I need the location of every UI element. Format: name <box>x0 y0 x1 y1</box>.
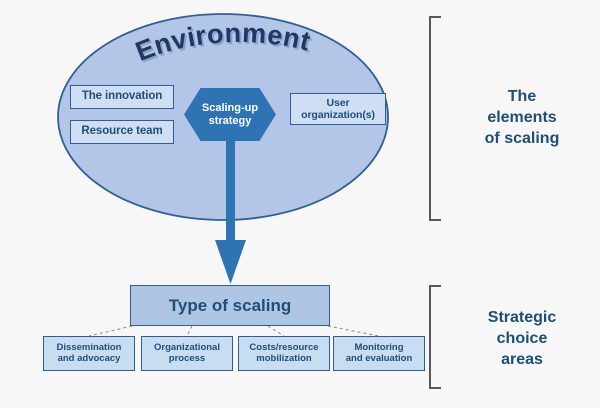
group-label-elements-of-scaling: The elements of scaling <box>447 86 597 149</box>
node-organizational-line1: Organizational <box>154 343 220 354</box>
scaling-up-strategy-label-line2: strategy <box>202 115 258 128</box>
node-dissemination-and-advocacy[interactable]: Dissemination and advocacy <box>43 336 135 371</box>
connector-monitoring <box>328 326 379 336</box>
node-the-innovation-label: The innovation <box>82 90 162 103</box>
node-resource-team-label: Resource team <box>81 125 162 138</box>
group-label-bottom-line2: choice <box>447 328 597 349</box>
group-label-top-line1: The <box>447 86 597 107</box>
node-costs-line2: mobilization <box>249 354 318 365</box>
node-type-of-scaling-label: Type of scaling <box>169 296 292 316</box>
group-label-top-line2: elements <box>447 107 597 128</box>
connector-lines <box>89 326 379 336</box>
group-label-bottom-line3: areas <box>447 349 597 370</box>
group-label-bottom-line1: Strategic <box>447 307 597 328</box>
bracket-strategic-choice-areas <box>430 286 440 388</box>
node-scaling-up-strategy[interactable]: Scaling-up strategy <box>184 88 276 141</box>
scaling-up-strategy-label-line1: Scaling-up <box>202 102 258 115</box>
connector-costs <box>268 326 284 336</box>
node-costs-resource-mobilization[interactable]: Costs/resource mobilization <box>238 336 330 371</box>
connector-organizational <box>187 326 192 336</box>
node-organizational-line2: process <box>154 354 220 365</box>
node-type-of-scaling[interactable]: Type of scaling <box>130 285 330 326</box>
node-resource-team[interactable]: Resource team <box>70 120 174 144</box>
node-the-innovation[interactable]: The innovation <box>70 85 174 109</box>
node-organizational-process[interactable]: Organizational process <box>141 336 233 371</box>
node-dissemination-line1: Dissemination <box>57 343 122 354</box>
node-monitoring-line1: Monitoring <box>346 343 413 354</box>
group-label-strategic-choice-areas: Strategic choice areas <box>447 307 597 370</box>
group-label-top-line3: of scaling <box>447 128 597 149</box>
node-monitoring-and-evaluation[interactable]: Monitoring and evaluation <box>333 336 425 371</box>
node-dissemination-line2: and advocacy <box>57 354 122 365</box>
node-costs-line1: Costs/resource <box>249 343 318 354</box>
connector-dissemination <box>89 326 132 336</box>
node-user-organizations-label: User organization(s) <box>291 97 385 121</box>
bracket-elements-of-scaling <box>430 17 440 220</box>
node-user-organizations[interactable]: User organization(s) <box>290 93 386 125</box>
node-monitoring-line2: and evaluation <box>346 354 413 365</box>
diagram-canvas: Environment Environment The innovation R <box>0 0 600 408</box>
